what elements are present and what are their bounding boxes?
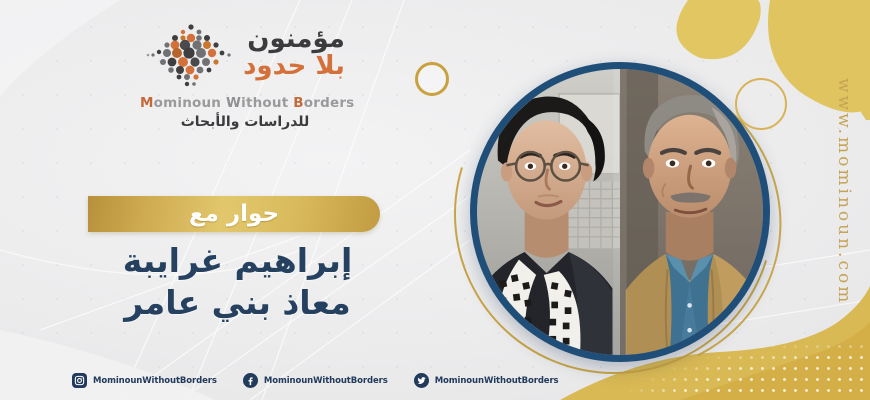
website-url-vertical[interactable]: www.mominoun.com [834, 78, 854, 305]
guest-name-2: معاذ بني عامر [90, 282, 385, 324]
banner-canvas: مؤمنون بلا حدود Mominoun Without Borders… [0, 0, 870, 400]
guest-names: إبراهيم غرايبة معاذ بني عامر [90, 240, 385, 324]
logo-arabic-wordmark: مؤمنون بلا حدود [243, 24, 345, 80]
dialogue-ribbon: حوار مع [88, 196, 380, 232]
decorative-gold-ring-small-icon [415, 62, 449, 96]
portrait-navy-ring [470, 62, 770, 362]
social-media-bar: MominounWithoutBorders MominounWithoutBo… [72, 373, 559, 388]
logo-arabic-line2: بلا حدود [243, 53, 345, 80]
logo-latin-b: B [293, 95, 304, 111]
logo-latin-w: W [226, 95, 241, 111]
guest-name-1: إبراهيم غرايبة [90, 240, 385, 282]
logo-latin-ithout: ithout [241, 95, 288, 111]
social-twitter-handle: MominounWithoutBorders [435, 376, 559, 386]
logo-latin-wordmark: Mominoun Without Borders [140, 95, 350, 111]
social-instagram[interactable]: MominounWithoutBorders [72, 373, 217, 388]
facebook-icon [243, 373, 258, 388]
social-facebook-handle: MominounWithoutBorders [264, 376, 388, 386]
social-twitter[interactable]: MominounWithoutBorders [414, 373, 559, 388]
logo-latin-ominoun: ominoun [154, 95, 221, 111]
instagram-icon [72, 373, 87, 388]
logo-arabic-line1: مؤمنون [243, 26, 345, 52]
twitter-icon [414, 373, 429, 388]
logo-dot-cluster-icon [145, 24, 237, 90]
logo-latin-m: M [140, 95, 154, 111]
dialogue-ribbon-label: حوار مع [189, 201, 279, 227]
portrait-image [477, 69, 763, 355]
logo-latin-orders: orders [304, 95, 355, 111]
brand-logo[interactable]: مؤمنون بلا حدود Mominoun Without Borders… [140, 24, 350, 134]
decorative-gold-ring-accent-icon [735, 78, 787, 130]
social-facebook[interactable]: MominounWithoutBorders [243, 373, 388, 388]
social-instagram-handle: MominounWithoutBorders [93, 376, 217, 386]
guest-portrait-frame [470, 62, 770, 362]
logo-arabic-subtitle: للدراسات والأبحاث [140, 114, 350, 130]
